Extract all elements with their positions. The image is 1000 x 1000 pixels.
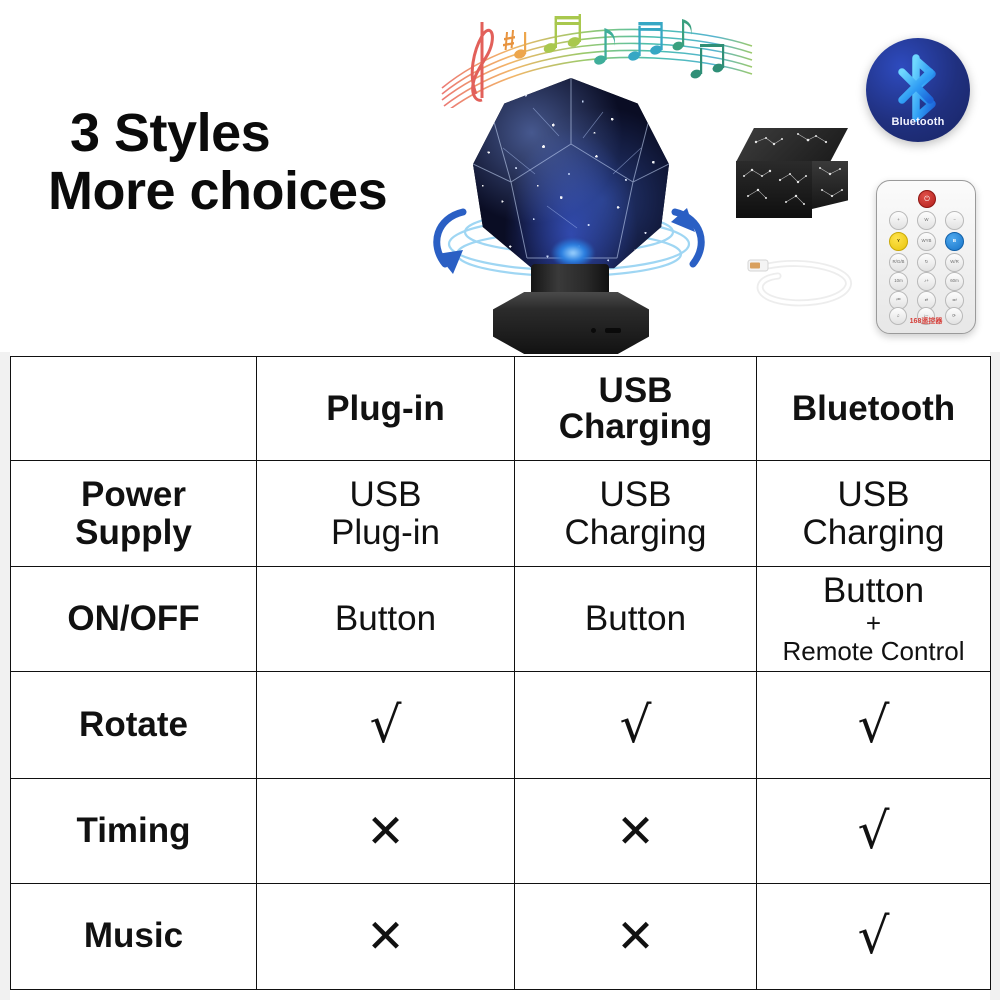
comparison-table: Plug-in USB Charging Bluetooth Power Sup…	[10, 356, 991, 990]
header-usb-line1: USB	[519, 373, 752, 409]
hero-section: 3 Styles More choices	[0, 0, 1000, 352]
box-side-face	[812, 161, 848, 209]
row-label-line2: Supply	[15, 514, 252, 552]
headline-line-1: 3 Styles	[48, 104, 448, 162]
bluetooth-badge: Bluetooth	[866, 38, 970, 142]
cell-music-bluetooth: √	[757, 883, 991, 989]
cell-rotate-plugin: √	[257, 672, 515, 778]
cell-timing-plugin: ✕	[257, 778, 515, 883]
remote-control: ⏻ + W − Y WYB B R/G/B ↻ W/R 10m ♪+ 60m ⏮…	[876, 180, 976, 334]
box-front-face	[736, 161, 812, 218]
header-cell-empty	[11, 357, 257, 461]
lamp-usb-port	[605, 328, 621, 333]
headline-line-2: More choices	[48, 162, 448, 220]
row-label-rotate: Rotate	[11, 672, 257, 778]
remote-button-y[interactable]: Y	[889, 232, 908, 251]
bluetooth-badge-label: Bluetooth	[866, 116, 970, 128]
remote-button-rgb[interactable]: R/G/B	[889, 253, 908, 272]
remote-button-rotate[interactable]: ↻	[917, 253, 936, 272]
remote-button-volume-up[interactable]: ♪+	[917, 272, 936, 291]
header-cell-plugin: Plug-in	[257, 357, 515, 461]
cell-timing-usb: ✕	[515, 778, 757, 883]
row-label-line1: Power	[15, 476, 252, 514]
box-lid	[736, 128, 848, 162]
remote-button-10min[interactable]: 10m	[889, 272, 908, 291]
row-label-power-supply: Power Supply	[11, 461, 257, 567]
header-usb-line2: Charging	[519, 409, 752, 445]
cell-on-off-bluetooth: Button + Remote Control	[757, 567, 991, 672]
header-cell-usb-charging: USB Charging	[515, 357, 757, 461]
remote-model-label: 168遥控器	[877, 316, 975, 326]
constellation-gift-box	[736, 128, 848, 220]
usb-cable-icon	[744, 252, 860, 316]
remote-button-60min[interactable]: 60m	[945, 272, 964, 291]
cell-rotate-bluetooth: √	[757, 672, 991, 778]
cell-on-off-plugin: Button	[257, 567, 515, 672]
cell-power-supply-plugin: USB Plug-in	[257, 461, 515, 567]
cell-music-plugin: ✕	[257, 883, 515, 989]
table-row-music: Music ✕ ✕ √	[11, 883, 991, 989]
cell-rotate-usb: √	[515, 672, 757, 778]
cell-power-supply-usb: USB Charging	[515, 461, 757, 567]
cell-music-usb: ✕	[515, 883, 757, 989]
lamp-power-button[interactable]	[591, 328, 596, 333]
table-row-timing: Timing ✕ ✕ √	[11, 778, 991, 883]
header-cell-bluetooth: Bluetooth	[757, 357, 991, 461]
lamp-base	[493, 292, 649, 354]
remote-button-b[interactable]: B	[945, 232, 964, 251]
row-label-on-off: ON/OFF	[11, 567, 257, 672]
remote-button-minus[interactable]: −	[945, 211, 964, 230]
row-label-timing: Timing	[11, 778, 257, 883]
remote-button-plus[interactable]: +	[889, 211, 908, 230]
table-row-rotate: Rotate √ √ √	[11, 672, 991, 778]
table-header-row: Plug-in USB Charging Bluetooth	[11, 357, 991, 461]
cell-power-supply-bluetooth: USB Charging	[757, 461, 991, 567]
remote-button-w[interactable]: W	[917, 211, 936, 230]
remote-button-wyb[interactable]: WYB	[917, 232, 936, 251]
headline: 3 Styles More choices	[48, 104, 448, 220]
remote-button-wr[interactable]: W/R	[945, 253, 964, 272]
row-label-music: Music	[11, 883, 257, 989]
table-row-power-supply: Power Supply USB Plug-in USB Charging US…	[11, 461, 991, 567]
remote-power-button[interactable]: ⏻	[918, 190, 936, 208]
cell-on-off-usb: Button	[515, 567, 757, 672]
cell-timing-bluetooth: √	[757, 778, 991, 883]
product-comparison-image: 3 Styles More choices	[0, 0, 1000, 1000]
header-plugin-label: Plug-in	[326, 389, 445, 428]
table-row-on-off: ON/OFF Button Button Button + Remote Con…	[11, 567, 991, 672]
header-bluetooth-label: Bluetooth	[792, 389, 955, 428]
star-projector-lamp	[455, 78, 685, 352]
